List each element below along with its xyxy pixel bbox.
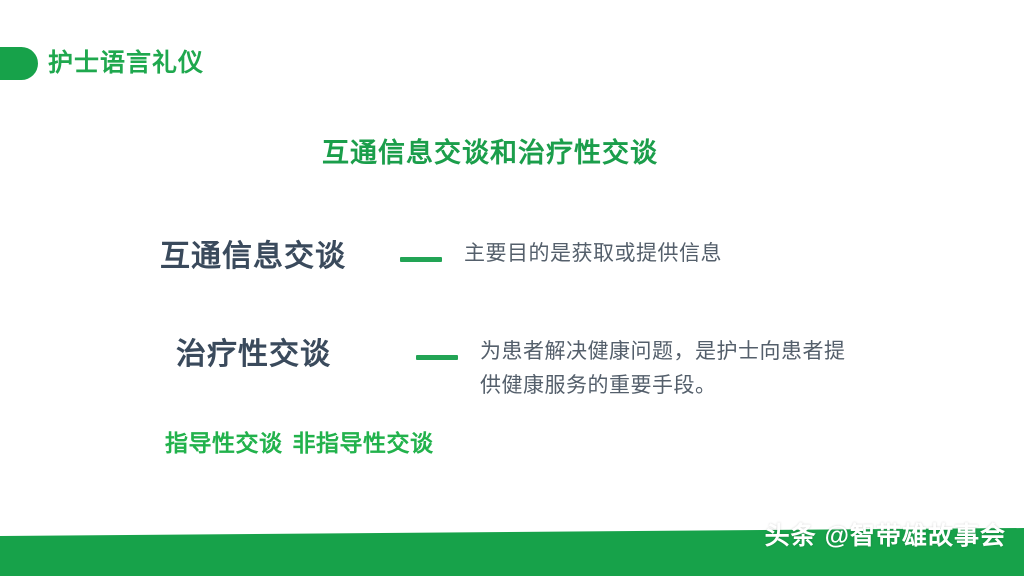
slide-header: 护士语言礼仪 bbox=[0, 44, 204, 82]
sub-tag-nondirective: 非指导性交谈 bbox=[293, 424, 434, 458]
description-line: 供健康服务的重要手段。 bbox=[480, 369, 950, 403]
description-line: 为患者解决健康问题，是护士向患者提 bbox=[480, 335, 950, 369]
definition-row: 治疗性交谈 为患者解决健康问题，是护士向患者提 供健康服务的重要手段。 bbox=[160, 335, 950, 403]
header-pill-icon bbox=[0, 47, 38, 80]
slide-canvas: 护士语言礼仪 互通信息交谈和治疗性交谈 互通信息交谈 主要目的是获取或提供信息 … bbox=[0, 0, 1024, 576]
definition-description: 主要目的是获取或提供信息 bbox=[464, 237, 934, 271]
dash-separator-icon bbox=[400, 257, 442, 262]
definition-term: 互通信息交谈 bbox=[160, 237, 400, 277]
slide-heading: 互通信息交谈和治疗性交谈 bbox=[0, 131, 980, 170]
watermark-text: 头条 @智带雄故事会 bbox=[765, 516, 1006, 552]
header-title: 护士语言礼仪 bbox=[48, 51, 204, 76]
sub-tag-directive: 指导性交谈 bbox=[165, 424, 283, 458]
description-line: 主要目的是获取或提供信息 bbox=[464, 237, 934, 271]
dash-separator-icon bbox=[416, 355, 458, 360]
definition-description: 为患者解决健康问题，是护士向患者提 供健康服务的重要手段。 bbox=[480, 335, 950, 403]
definition-term: 治疗性交谈 bbox=[160, 335, 416, 375]
sub-tag-group: 指导性交谈 非指导性交谈 bbox=[165, 424, 434, 458]
definition-row: 互通信息交谈 主要目的是获取或提供信息 bbox=[160, 237, 934, 277]
